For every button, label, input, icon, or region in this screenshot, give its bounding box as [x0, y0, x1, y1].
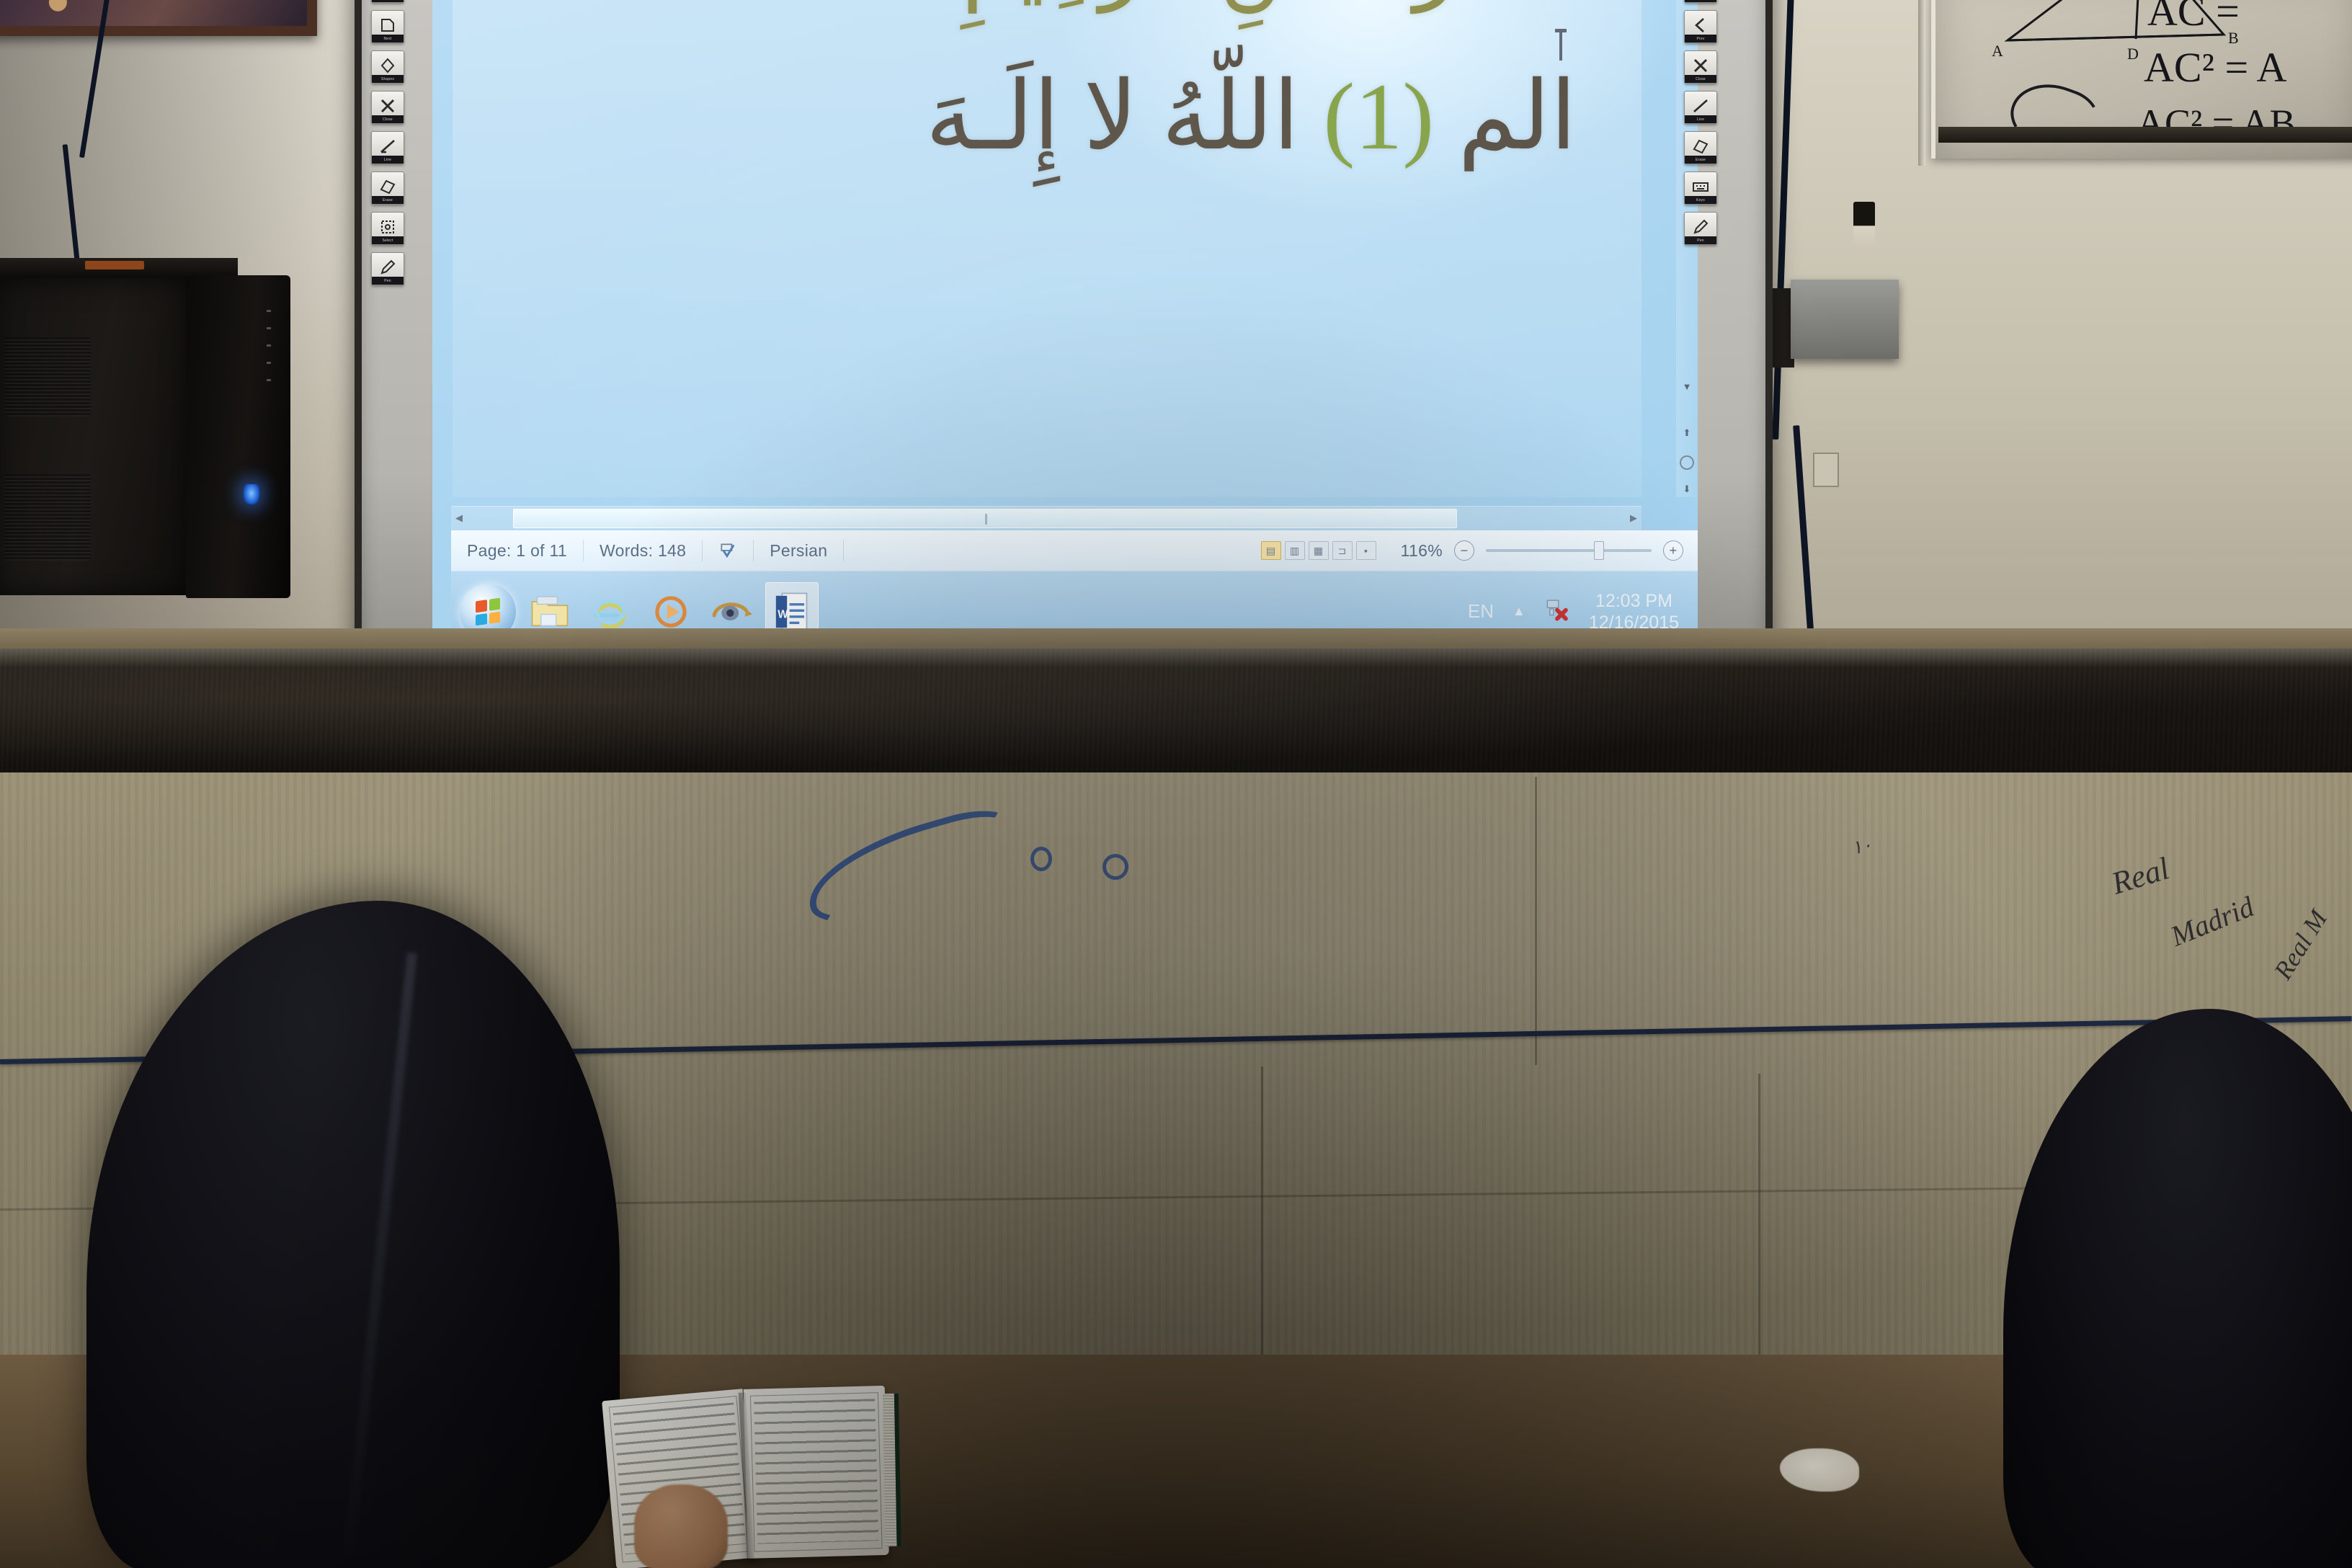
pen-icon[interactable]: Pen: [371, 252, 404, 285]
line-glyph: [1691, 97, 1710, 115]
next-page-button[interactable]: ⬇: [1680, 483, 1693, 496]
next-page-glyph: [378, 17, 397, 34]
zoom-out-button[interactable]: −: [1454, 540, 1474, 561]
spell-check-glyph: [718, 541, 737, 560]
scroll-left-button[interactable]: ◀: [455, 512, 463, 524]
zoom-controls: 116% − +: [1386, 540, 1698, 561]
zoom-in-button[interactable]: +: [1663, 540, 1683, 561]
keyboard-icon[interactable]: Keys: [1684, 171, 1717, 205]
close-glyph: [378, 97, 397, 115]
outline-view-button[interactable]: ⊐: [1332, 541, 1353, 560]
word-document-page[interactable]: الرَّحْمـَنِ الرَّحِيمِ الم (1) اللّهُ ل…: [453, 0, 1641, 497]
pen-icon[interactable]: Pen: [1684, 212, 1717, 245]
smart-eye-swirl-glyph: [710, 593, 752, 631]
scroll-down-button[interactable]: ▼: [1680, 380, 1693, 393]
tool-label: Pen: [372, 277, 404, 285]
word-document-glyph: W: [773, 591, 811, 633]
line-glyph: [378, 138, 397, 155]
scroll-right-button[interactable]: ▶: [1630, 512, 1637, 524]
shapes-glyph: [378, 57, 397, 74]
horizontal-scroll-thumb[interactable]: [513, 509, 1457, 528]
windows-flag-glyph: [476, 597, 500, 625]
smartboard-right-toolbar: Save Prev Close Line Erase Keys Pen: [1679, 0, 1722, 339]
page-indicator[interactable]: Page: 1 of 11: [451, 540, 584, 561]
select-glyph: [378, 218, 397, 236]
pc-vent: [4, 474, 91, 561]
page-arabic-text: [754, 1399, 878, 1543]
pen-glyph: [1691, 218, 1710, 236]
close-glyph: [1691, 57, 1710, 74]
tool-label: Pen: [1685, 236, 1716, 244]
tool-label: Prev: [1685, 35, 1716, 43]
eraser-glyph: [378, 178, 397, 195]
tool-label: Line: [372, 156, 404, 164]
zoom-slider[interactable]: [1486, 549, 1652, 552]
taskbar-clock[interactable]: 12:03 PM 12/16/2015: [1589, 590, 1679, 633]
book-page-edges: [883, 1394, 901, 1546]
quran-verse-text: الم (1) اللّهُ لا إِلَـهَ: [925, 61, 1577, 171]
prev-page-icon[interactable]: Prev: [1684, 10, 1717, 43]
word-status-bar: Page: 1 of 11 Words: 148 Persian ▤ ▥ ▦ ⊐…: [451, 530, 1698, 571]
previous-page-button[interactable]: ⬆: [1680, 427, 1693, 440]
tool-label: Next: [372, 35, 404, 43]
eraser-icon[interactable]: Erase: [1684, 131, 1717, 164]
full-screen-reading-view-button[interactable]: ▥: [1285, 541, 1305, 560]
alif-lam-mim: الم: [1458, 63, 1577, 169]
tool-label: Erase: [372, 196, 404, 204]
pc-tower-orange-strip: [85, 261, 144, 269]
line-icon[interactable]: Line: [371, 131, 404, 164]
language-indicator[interactable]: Persian: [754, 540, 844, 561]
ayah-number: (1): [1323, 63, 1434, 169]
tool-label: Line: [1685, 115, 1716, 123]
tool-label: Keys: [1685, 196, 1716, 204]
scroll-thumb-grip: [985, 514, 987, 525]
student-hand: [634, 1484, 728, 1568]
print-layout-view-button[interactable]: ▤: [1261, 541, 1281, 560]
projected-screen[interactable]: الرَّحْمـَنِ الرَّحِيمِ الم (1) اللّهُ ل…: [432, 0, 1698, 651]
wall-seam: [1261, 1066, 1263, 1355]
la-ilaha-text: لا إِلَـهَ: [925, 63, 1138, 169]
shapes-icon[interactable]: Shapes: [371, 50, 404, 84]
framed-picture-image: [0, 0, 307, 26]
web-layout-view-button[interactable]: ▦: [1309, 541, 1329, 560]
eraser-glyph: [1691, 138, 1710, 155]
tool-label: Close: [372, 115, 404, 123]
whiteboard-note-line-1: AC =: [2147, 0, 2240, 35]
browse-object-button[interactable]: [1680, 455, 1694, 470]
allah-word: اللّهُ: [1162, 63, 1299, 169]
word-count[interactable]: Words: 148: [584, 540, 703, 561]
network-error-glyph: [1544, 597, 1570, 621]
pen-dot-graffiti: [1102, 854, 1128, 880]
save-page-icon[interactable]: Save: [371, 0, 404, 3]
pen-glyph: [378, 259, 397, 276]
zoom-slider-handle[interactable]: [1594, 541, 1604, 560]
media-play-glyph: [652, 593, 690, 631]
tool-label: Select: [372, 236, 404, 244]
pc-tower-front-panel: [186, 275, 290, 598]
granite-gloss-highlight: [0, 649, 2352, 667]
pc-vent: [4, 337, 91, 416]
draft-view-button[interactable]: ▪: [1356, 541, 1376, 560]
eraser-icon[interactable]: Erase: [371, 171, 404, 205]
system-tray: EN ▲ 12:03 PM 12/16/2015: [1468, 590, 1698, 633]
line-icon[interactable]: Line: [1684, 91, 1717, 124]
metal-wall-mount-box: [1791, 280, 1899, 359]
tool-label: Shapes: [372, 75, 404, 83]
prev-page-glyph: [1691, 17, 1710, 34]
book-page-right: [744, 1386, 889, 1559]
smartboard-left-toolbar: Save Next Shapes Close Line Erase Select: [366, 0, 409, 339]
network-error-icon[interactable]: [1544, 597, 1570, 626]
clock-time: 12:03 PM: [1589, 590, 1679, 612]
whiteboard-marker-icon: [1853, 202, 1875, 245]
svg-text:A: A: [1992, 42, 2003, 60]
pen-dot-graffiti: [1030, 847, 1052, 871]
keyboard-glyph: [1691, 178, 1710, 195]
picture-frame: [0, 0, 317, 36]
next-page-icon[interactable]: Next: [371, 10, 404, 43]
show-hidden-icons-button[interactable]: ▲: [1513, 604, 1525, 619]
svg-text:W: W: [778, 608, 788, 620]
close-icon[interactable]: Close: [1684, 50, 1717, 84]
basmala-text: الرَّحْمـَنِ الرَّحِيمِ: [962, 0, 1512, 14]
view-buttons-group: ▤ ▥ ▦ ⊐ ▪: [1251, 541, 1386, 560]
select-icon[interactable]: Select: [371, 212, 404, 245]
wall-seam: [1535, 777, 1537, 1065]
pc-indicator-dots: [267, 310, 271, 382]
close-icon[interactable]: Close: [371, 91, 404, 124]
whiteboard-pen-tray: [1938, 127, 2352, 143]
wall-power-outlet: [1813, 453, 1839, 487]
tool-label: Save: [1685, 0, 1716, 2]
tool-label: Close: [1685, 75, 1716, 83]
save-page-icon[interactable]: Save: [1684, 0, 1717, 3]
language-bar[interactable]: EN: [1468, 600, 1494, 623]
whiteboard-note-line-2: AC² = A: [2144, 43, 2286, 92]
tool-label: Erase: [1685, 156, 1716, 164]
horizontal-scrollbar[interactable]: ◀ ▶: [451, 506, 1641, 530]
classroom-photo-scene: A D B AC = AC² = A AC² = AB الرَّحْمـَنِ…: [0, 0, 2352, 1568]
whiteboard-edge: [1918, 0, 1925, 166]
ie-e-glyph: [589, 592, 631, 631]
explorer-folder-glyph: [530, 594, 570, 630]
wall-graffiti-number: ۱۰: [1850, 834, 1874, 859]
spell-check-icon[interactable]: [703, 540, 754, 561]
zoom-level-label[interactable]: 116%: [1401, 541, 1443, 561]
wall-seam: [1758, 1074, 1760, 1362]
svg-text:D: D: [2127, 45, 2139, 63]
blue-power-led-icon: [244, 484, 259, 504]
text-cursor: [1559, 32, 1562, 61]
tool-label: Save: [372, 0, 404, 2]
granite-wall-band: [0, 649, 2352, 778]
